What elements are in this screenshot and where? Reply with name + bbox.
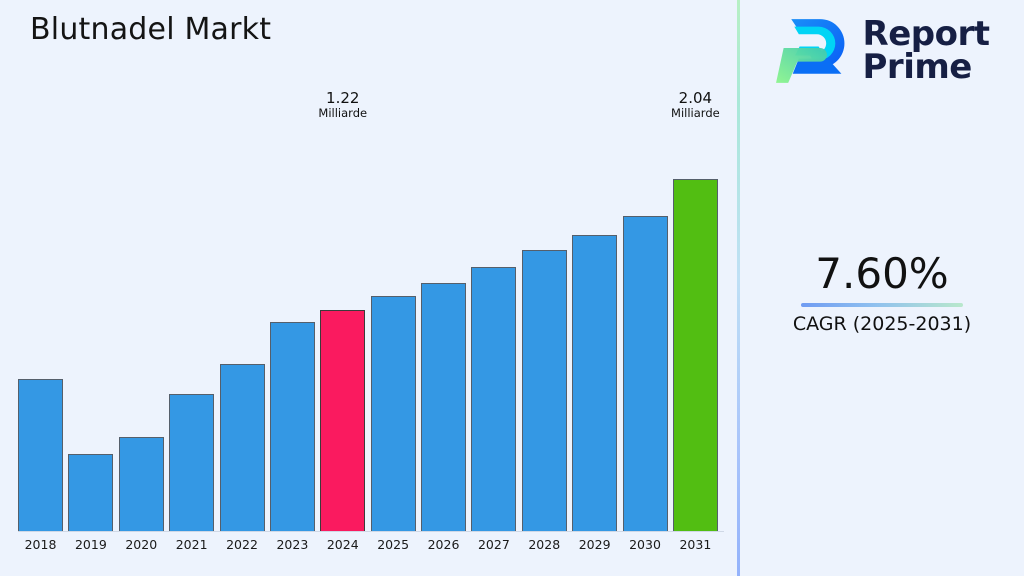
cagr-block: 7.60% CAGR (2025-2031) [740, 252, 1024, 335]
chart-page: Blutnadel Markt 1.22Milliarde2.04Milliar… [0, 0, 1024, 576]
bar-value-2031: 2.04 [671, 90, 720, 107]
bar-column-2028 [522, 120, 567, 531]
x-tick-2029: 2029 [572, 537, 617, 552]
bar-column-2024: 1.22Milliarde [320, 120, 365, 531]
bar-value-label-2031: 2.04Milliarde [671, 90, 720, 120]
bar-2020[interactable] [119, 437, 164, 531]
bar-column-2030 [623, 120, 668, 531]
bar-column-2023 [270, 120, 315, 531]
logo-line-1: Report [863, 18, 990, 51]
bar-unit-2031: Milliarde [671, 107, 720, 120]
x-tick-2019: 2019 [68, 537, 113, 552]
x-tick-2028: 2028 [522, 537, 567, 552]
bar-column-2029 [572, 120, 617, 531]
bar-column-2026 [421, 120, 466, 531]
x-tick-2024: 2024 [320, 537, 365, 552]
x-tick-2021: 2021 [169, 537, 214, 552]
bar-unit-2024: Milliarde [318, 107, 367, 120]
bar-2025[interactable] [371, 296, 416, 531]
x-tick-2025: 2025 [371, 537, 416, 552]
x-tick-2030: 2030 [623, 537, 668, 552]
x-tick-2027: 2027 [471, 537, 516, 552]
bar-2019[interactable] [68, 454, 113, 531]
bar-series: 1.22Milliarde2.04Milliarde [12, 120, 724, 531]
bar-column-2025 [371, 120, 416, 531]
cagr-value: 7.60% [740, 252, 1024, 296]
bar-2018[interactable] [18, 379, 63, 531]
x-tick-2026: 2026 [421, 537, 466, 552]
cagr-caption: CAGR (2025-2031) [740, 313, 1024, 335]
bar-2031[interactable] [673, 179, 718, 531]
x-tick-2018: 2018 [18, 537, 63, 552]
bar-column-2019 [68, 120, 113, 531]
bar-value-2024: 1.22 [318, 90, 367, 107]
x-tick-2031: 2031 [673, 537, 718, 552]
x-tick-2020: 2020 [119, 537, 164, 552]
x-axis-tick-labels: 2018201920202021202220232024202520262027… [12, 537, 724, 552]
bar-2023[interactable] [270, 322, 315, 531]
side-panel: Report Prime 7.60% CAGR (2025-2031) [740, 0, 1024, 576]
logo-wordmark: Report Prime [863, 18, 990, 85]
page-title: Blutnadel Markt [30, 12, 271, 47]
bar-column-2031: 2.04Milliarde [673, 120, 718, 531]
bar-2021[interactable] [169, 394, 214, 531]
bar-value-label-2024: 1.22Milliarde [318, 90, 367, 120]
x-tick-2023: 2023 [270, 537, 315, 552]
logo-line-2: Prime [863, 51, 990, 84]
plot-area: 1.22Milliarde2.04Milliarde [12, 120, 724, 532]
x-tick-2022: 2022 [220, 537, 265, 552]
bar-2027[interactable] [471, 267, 516, 531]
bar-2028[interactable] [522, 250, 567, 531]
cagr-divider-rule [801, 303, 963, 307]
bar-2030[interactable] [623, 216, 668, 531]
bar-column-2021 [169, 120, 214, 531]
bar-column-2018 [18, 120, 63, 531]
bar-column-2022 [220, 120, 265, 531]
report-prime-logo-mark [775, 14, 851, 88]
bar-2024[interactable] [320, 310, 365, 531]
x-axis-line [18, 531, 724, 532]
bar-2022[interactable] [220, 364, 265, 531]
bar-2026[interactable] [421, 283, 466, 531]
bar-column-2020 [119, 120, 164, 531]
report-prime-logo: Report Prime [775, 14, 990, 88]
bar-2029[interactable] [572, 235, 617, 531]
bar-column-2027 [471, 120, 516, 531]
chart-panel: Blutnadel Markt 1.22Milliarde2.04Milliar… [0, 0, 737, 576]
